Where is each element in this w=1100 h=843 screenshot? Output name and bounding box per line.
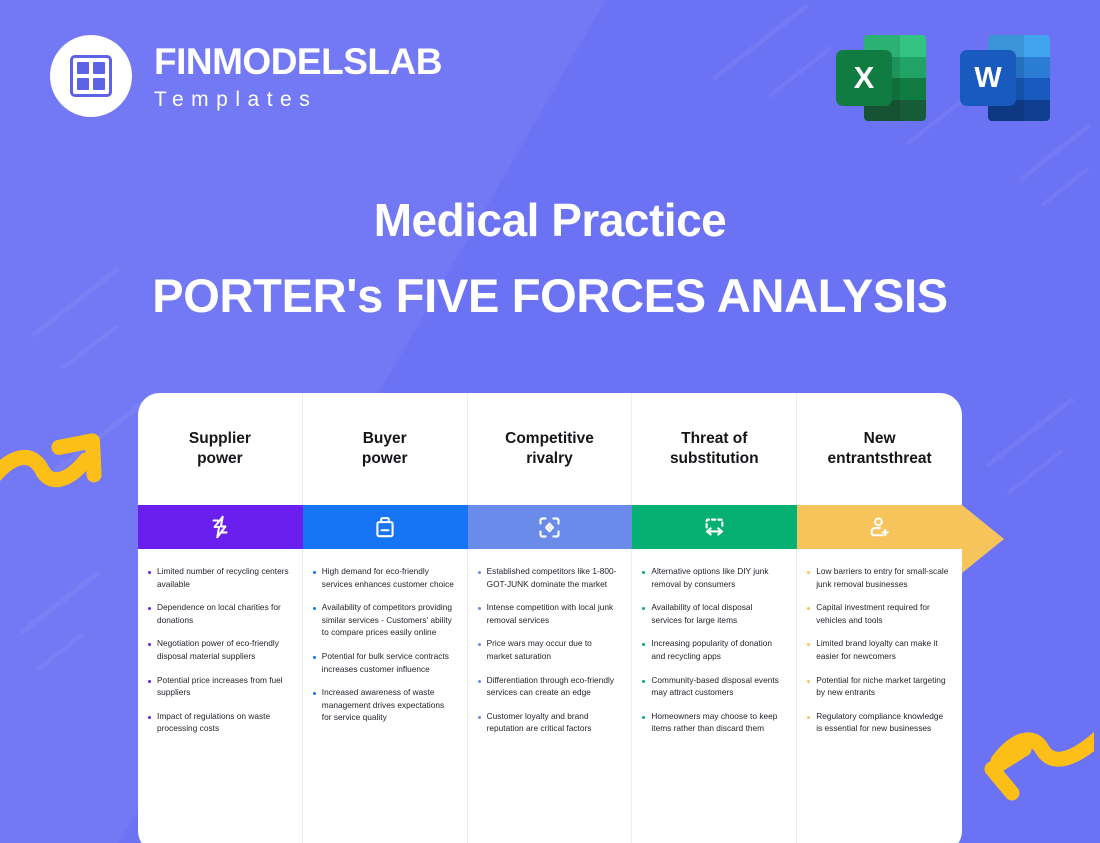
list-item: Limited brand loyalty can make it easier… <box>807 637 950 662</box>
bullet-dot-icon <box>478 571 481 574</box>
bullet-dot-icon <box>807 643 810 646</box>
bullet-dot-icon <box>313 571 316 574</box>
list-item: Potential price increases from fuel supp… <box>148 674 290 699</box>
porters-five-forces-card: Supplier power Limited number of recycli… <box>138 393 962 843</box>
bullet-dot-icon <box>148 607 151 610</box>
column-title: New entrantsthreat <box>827 429 931 469</box>
list-item: Intense competition with local junk remo… <box>478 601 620 626</box>
title-block: Medical Practice PORTER's FIVE FORCES AN… <box>0 195 1100 321</box>
brand-subtitle: Templates <box>154 89 442 110</box>
column-header: Competitive rivalry <box>468 393 632 505</box>
bullet-text: Potential price increases from fuel supp… <box>157 674 290 699</box>
list-item: Capital investment required for vehicles… <box>807 601 950 626</box>
brand-logo-block: FINMODELSLAB Templates <box>50 35 442 117</box>
bullet-dot-icon <box>148 716 151 719</box>
force-column-competitive-rivalry[interactable]: Competitive rivalry Established competit… <box>468 393 633 843</box>
list-item: Impact of regulations on waste processin… <box>148 710 290 735</box>
bullet-text: Availability of local disposal services … <box>651 601 784 626</box>
column-title-line1: Buyer <box>363 430 407 447</box>
office-icons: X W <box>830 28 1050 124</box>
bullet-dot-icon <box>148 680 151 683</box>
excel-icon: X <box>830 28 926 124</box>
column-header: Supplier power <box>138 393 302 505</box>
bullet-dot-icon <box>642 571 645 574</box>
bullet-text: Community-based disposal events may attr… <box>651 674 784 699</box>
column-bullets: High demand for eco-friendly services en… <box>303 549 467 843</box>
bullet-dot-icon <box>313 607 316 610</box>
word-icon: W <box>954 28 1050 124</box>
bullet-text: Availability of competitors providing si… <box>322 601 455 639</box>
column-header: Threat of substitution <box>632 393 796 505</box>
bullet-text: Homeowners may choose to keep items rath… <box>651 710 784 735</box>
bullet-dot-icon <box>478 643 481 646</box>
column-band <box>797 505 962 549</box>
list-item: Alternative options like DIY junk remova… <box>642 565 784 590</box>
bullet-dot-icon <box>807 571 810 574</box>
bullet-dot-icon <box>807 607 810 610</box>
bullet-text: High demand for eco-friendly services en… <box>322 565 455 590</box>
bullet-text: Potential for bulk service contracts inc… <box>322 650 455 675</box>
force-column-new-entrants-threat[interactable]: New entrantsthreat Low barriers to entry… <box>797 393 962 843</box>
column-header: Buyer power <box>303 393 467 505</box>
decorative-arrow-right-icon <box>954 727 1094 815</box>
brand-logo-circle <box>50 35 132 117</box>
column-band <box>468 505 632 549</box>
list-item: Dependence on local charities for donati… <box>148 601 290 626</box>
column-title: Competitive rivalry <box>505 429 594 469</box>
force-column-threat-of-substitution[interactable]: Threat of substitution Alternative optio… <box>632 393 797 843</box>
bullet-dot-icon <box>313 692 316 695</box>
list-item: Differentiation through eco-friendly ser… <box>478 674 620 699</box>
column-title-line2: power <box>362 450 408 467</box>
bullet-text: Customer loyalty and brand reputation ar… <box>487 710 620 735</box>
column-title: Supplier power <box>189 429 251 469</box>
bullet-text: Dependence on local charities for donati… <box>157 601 290 626</box>
excel-letter: X <box>836 50 892 106</box>
word-letter: W <box>960 50 1016 106</box>
list-item: Negotiation power of eco-friendly dispos… <box>148 637 290 662</box>
force-column-buyer-power[interactable]: Buyer power High demand for eco-friendly… <box>303 393 468 843</box>
bullet-text: Impact of regulations on waste processin… <box>157 710 290 735</box>
bullet-dot-icon <box>642 643 645 646</box>
bullet-dot-icon <box>642 607 645 610</box>
bullet-text: Price wars may occur due to market satur… <box>487 637 620 662</box>
column-title-line1: Supplier <box>189 430 251 447</box>
bullet-dot-icon <box>478 716 481 719</box>
column-band <box>138 505 302 549</box>
bullet-text: Limited number of recycling centers avai… <box>157 565 290 590</box>
bullet-text: Low barriers to entry for small-scale ju… <box>816 565 950 590</box>
column-title-line1: Competitive <box>505 430 594 447</box>
bullet-text: Differentiation through eco-friendly ser… <box>487 674 620 699</box>
list-item: Low barriers to entry for small-scale ju… <box>807 565 950 590</box>
column-title-line2: power <box>197 450 243 467</box>
column-bullets: Low barriers to entry for small-scale ju… <box>797 549 962 843</box>
brand-name: FINMODELSLAB <box>154 43 442 80</box>
column-title: Threat of substitution <box>670 429 759 469</box>
bullet-dot-icon <box>478 680 481 683</box>
list-item: High demand for eco-friendly services en… <box>313 565 455 590</box>
bullet-text: Increased awareness of waste management … <box>322 686 455 724</box>
column-band <box>632 505 796 549</box>
bullet-dot-icon <box>478 607 481 610</box>
column-title-line2: entrantsthreat <box>827 450 931 467</box>
list-item: Community-based disposal events may attr… <box>642 674 784 699</box>
column-title-line2: substitution <box>670 450 759 467</box>
bullet-dot-icon <box>148 643 151 646</box>
bullet-text: Alternative options like DIY junk remova… <box>651 565 784 590</box>
column-bullets: Alternative options like DIY junk remova… <box>632 549 796 843</box>
bullet-dot-icon <box>313 656 316 659</box>
forces-columns: Supplier power Limited number of recycli… <box>138 393 962 843</box>
list-item: Homeowners may choose to keep items rath… <box>642 710 784 735</box>
bullet-text: Intense competition with local junk remo… <box>487 601 620 626</box>
bullet-dot-icon <box>807 716 810 719</box>
bullet-dot-icon <box>807 680 810 683</box>
list-item: Increased awareness of waste management … <box>313 686 455 724</box>
list-item: Regulatory compliance knowledge is essen… <box>807 710 950 735</box>
brand-text: FINMODELSLAB Templates <box>154 43 442 110</box>
list-item: Limited number of recycling centers avai… <box>148 565 290 590</box>
band-arrow-head-icon <box>962 505 1004 573</box>
bullet-text: Increasing popularity of donation and re… <box>651 637 784 662</box>
list-item: Potential for niche market targeting by … <box>807 674 950 699</box>
page-header: FINMODELSLAB Templates X W <box>50 30 1050 122</box>
card-inner: Supplier power Limited number of recycli… <box>138 393 962 843</box>
column-header: New entrantsthreat <box>797 393 962 505</box>
column-title-line1: New <box>864 430 896 447</box>
bullet-text: Limited brand loyalty can make it easier… <box>816 637 950 662</box>
list-item: Established competitors like 1-800-GOT-J… <box>478 565 620 590</box>
bullet-text: Regulatory compliance knowledge is essen… <box>816 710 950 735</box>
bullet-text: Established competitors like 1-800-GOT-J… <box>487 565 620 590</box>
list-item: Price wars may occur due to market satur… <box>478 637 620 662</box>
list-item: Availability of local disposal services … <box>642 601 784 626</box>
column-title-line2: rivalry <box>526 450 573 467</box>
list-item: Potential for bulk service contracts inc… <box>313 650 455 675</box>
force-column-supplier-power[interactable]: Supplier power Limited number of recycli… <box>138 393 303 843</box>
bullet-text: Capital investment required for vehicles… <box>816 601 950 626</box>
grid-squares-icon <box>70 55 112 97</box>
bullet-text: Potential for niche market targeting by … <box>816 674 950 699</box>
list-item: Increasing popularity of donation and re… <box>642 637 784 662</box>
column-title: Buyer power <box>362 429 408 469</box>
column-band <box>303 505 467 549</box>
list-item: Availability of competitors providing si… <box>313 601 455 639</box>
bullet-dot-icon <box>148 571 151 574</box>
bullet-dot-icon <box>642 680 645 683</box>
column-title-line1: Threat of <box>681 430 747 447</box>
bullet-dot-icon <box>642 716 645 719</box>
column-bullets: Limited number of recycling centers avai… <box>138 549 302 843</box>
list-item: Customer loyalty and brand reputation ar… <box>478 710 620 735</box>
brand-name-text: FINMODELSLAB <box>154 41 442 82</box>
bullet-text: Negotiation power of eco-friendly dispos… <box>157 637 290 662</box>
decorative-arrow-left-icon <box>0 412 129 497</box>
page-subtitle: PORTER's FIVE FORCES ANALYSIS <box>0 270 1100 322</box>
page-title: Medical Practice <box>0 195 1100 246</box>
column-bullets: Established competitors like 1-800-GOT-J… <box>468 549 632 843</box>
